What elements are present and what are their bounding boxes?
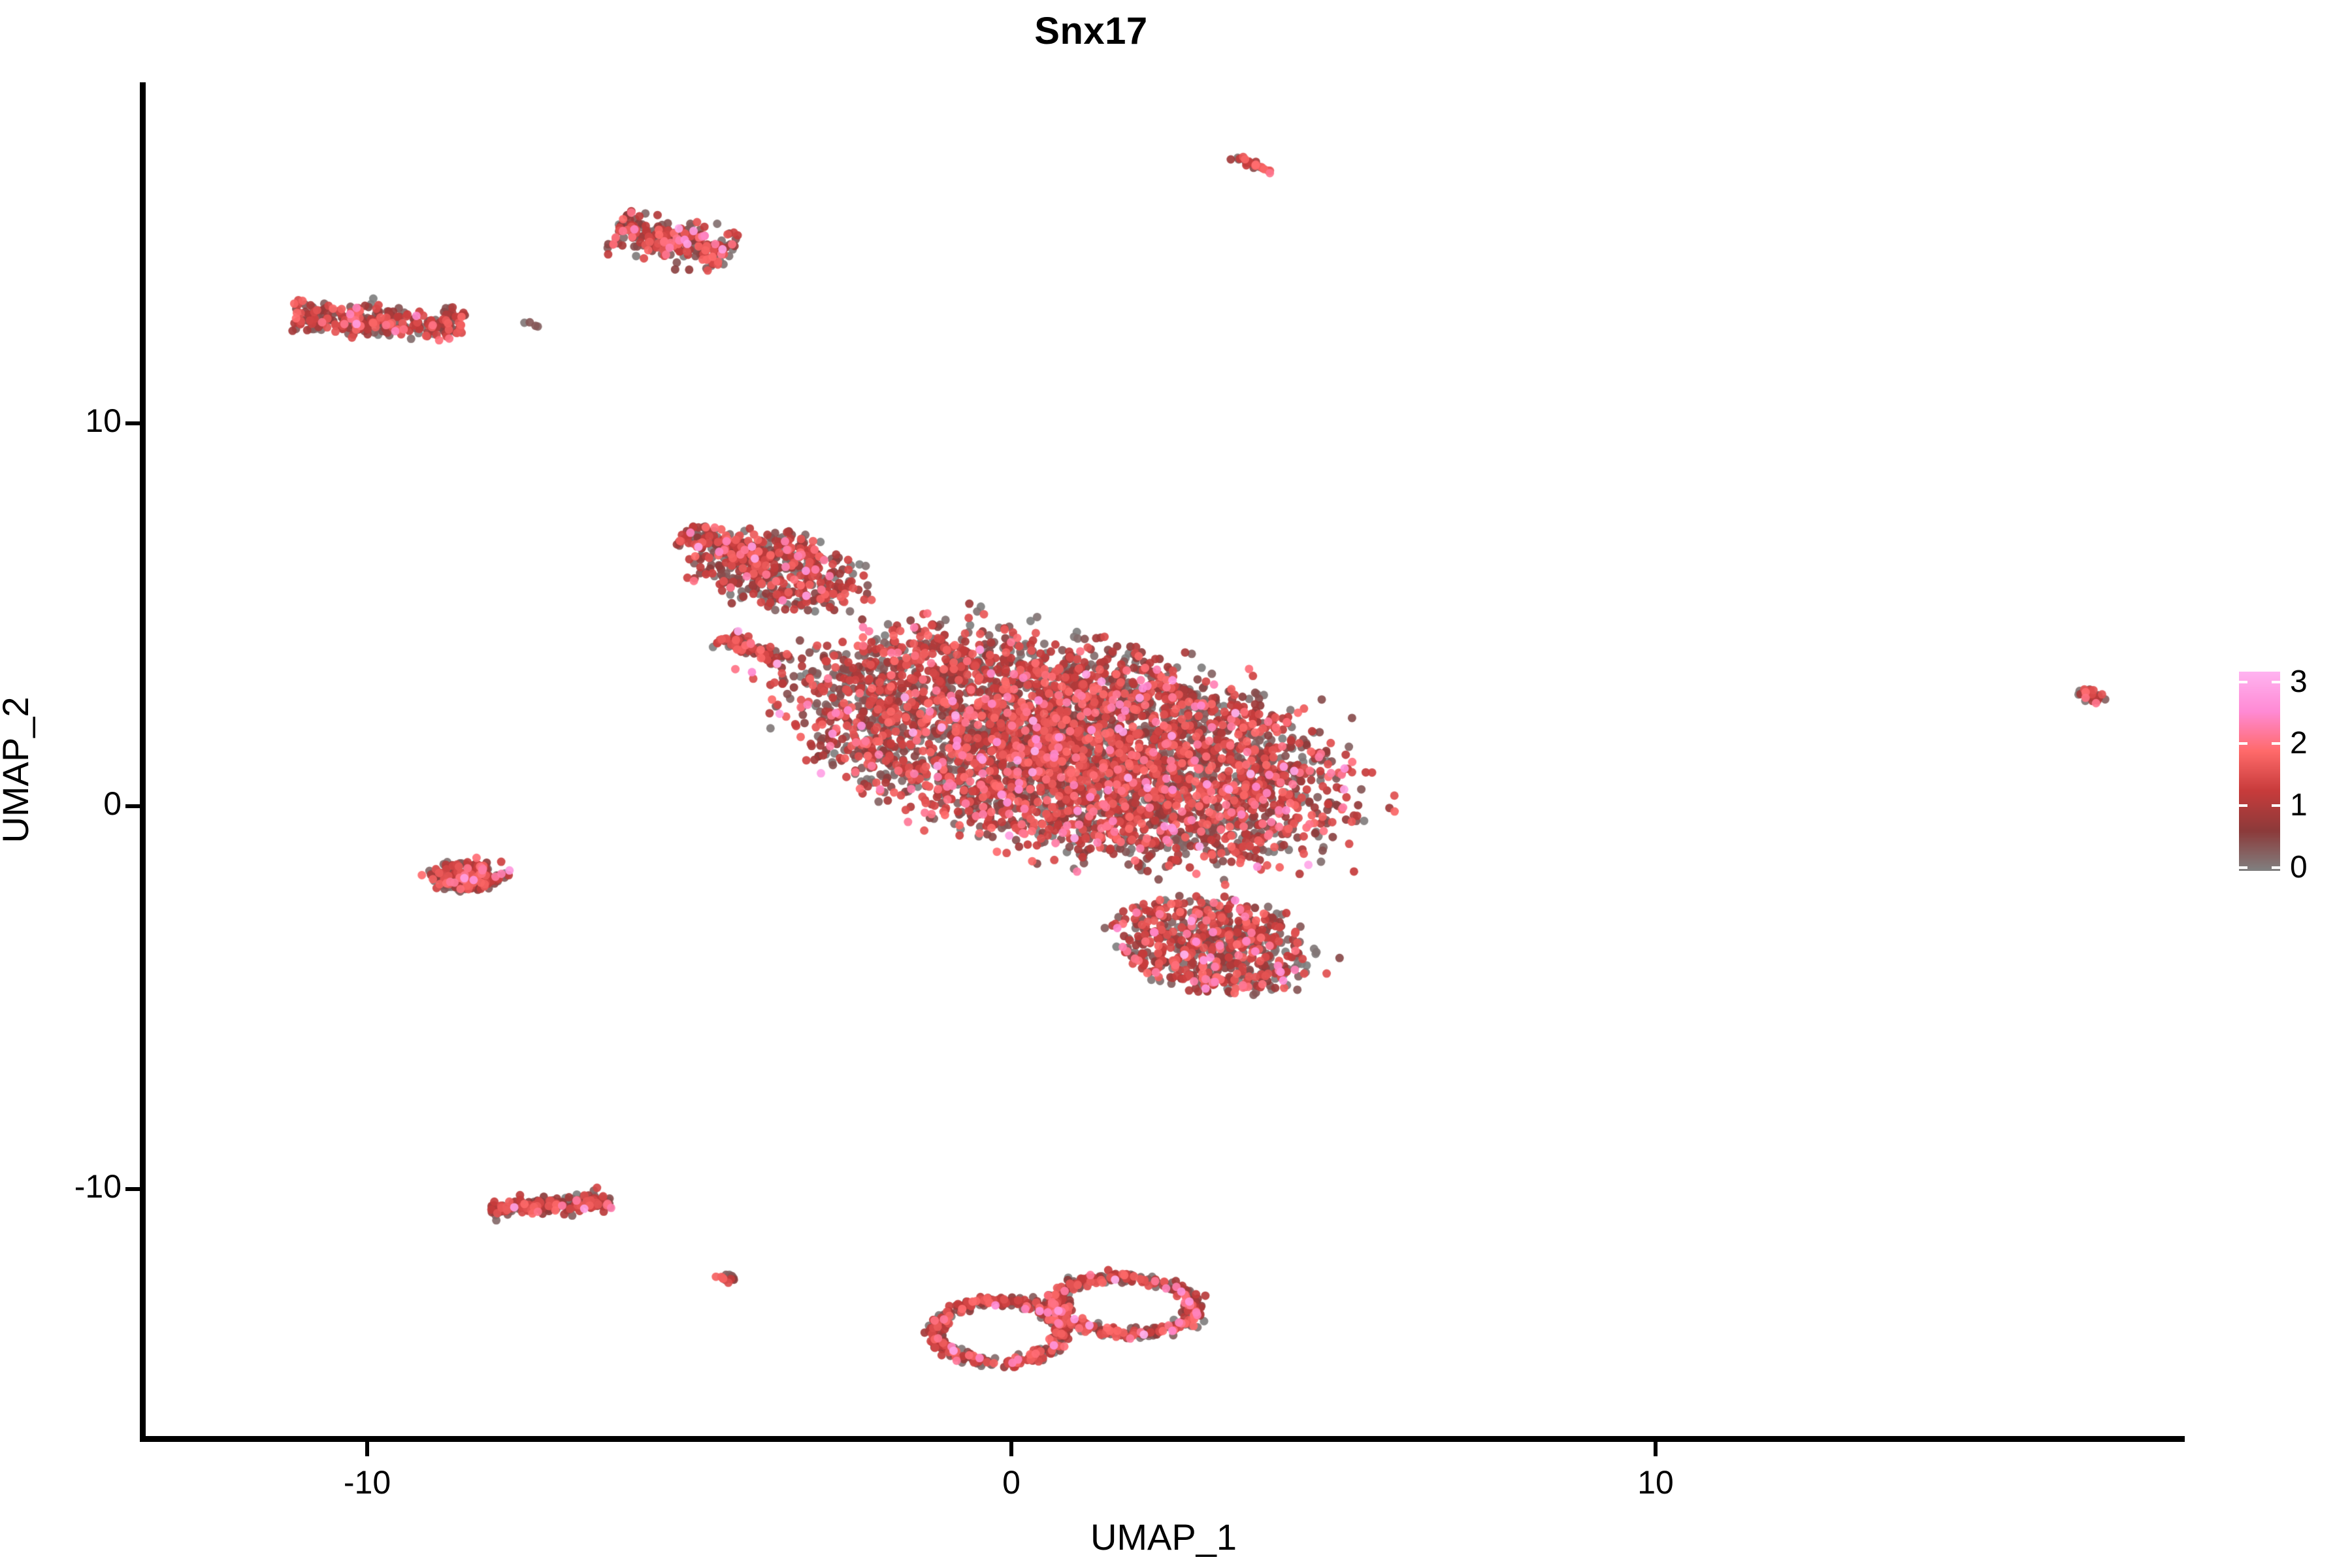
scatter-points-canvas — [145, 84, 2182, 1439]
colorbar-label-0: 0 — [2290, 852, 2308, 883]
y-tick-label-neg10: -10 — [74, 1168, 122, 1205]
colorbar-label-3: 3 — [2290, 666, 2308, 698]
colorbar-label-2: 2 — [2290, 728, 2308, 759]
x-tick-label-10: 10 — [1637, 1463, 1674, 1501]
y-tick-mark-0 — [125, 804, 140, 808]
colorbar-label-1: 1 — [2290, 790, 2308, 821]
colorbar-tick-3-left — [2239, 681, 2247, 683]
x-tick-mark-0 — [1009, 1442, 1013, 1456]
x-tick-mark-neg10 — [365, 1442, 369, 1456]
colorbar-tick-3-right — [2272, 681, 2280, 683]
colorbar-tick-1-right — [2272, 804, 2280, 807]
y-tick-mark-neg10 — [125, 1187, 140, 1191]
y-axis-line — [140, 82, 146, 1442]
colorbar-tick-2-right — [2272, 742, 2280, 745]
x-axis-title: UMAP_1 — [145, 1516, 2182, 1558]
y-tick-label-10: 10 — [85, 402, 122, 440]
colorbar-legend: 3 2 1 0 — [2239, 672, 2337, 871]
colorbar-tick-2-left — [2239, 742, 2247, 745]
colorbar-gradient — [2239, 672, 2280, 871]
x-tick-mark-10 — [1654, 1442, 1658, 1456]
y-axis-title: UMAP_2 — [0, 92, 37, 1448]
x-tick-label-neg10: -10 — [344, 1463, 391, 1501]
colorbar-tick-1-left — [2239, 804, 2247, 807]
plot-panel — [145, 84, 2182, 1439]
page-title: Snx17 — [0, 9, 2182, 53]
x-axis-line — [140, 1436, 2185, 1442]
y-tick-mark-10 — [125, 421, 140, 425]
y-tick-label-0: 0 — [103, 785, 122, 823]
umap-feature-plot: Snx17 10 0 -10 -10 0 10 UMAP_1 UMAP_2 3 … — [0, 0, 2352, 1568]
colorbar-tick-0-right — [2272, 866, 2280, 869]
colorbar-tick-0-left — [2239, 866, 2247, 869]
x-tick-label-0: 0 — [1002, 1463, 1021, 1501]
